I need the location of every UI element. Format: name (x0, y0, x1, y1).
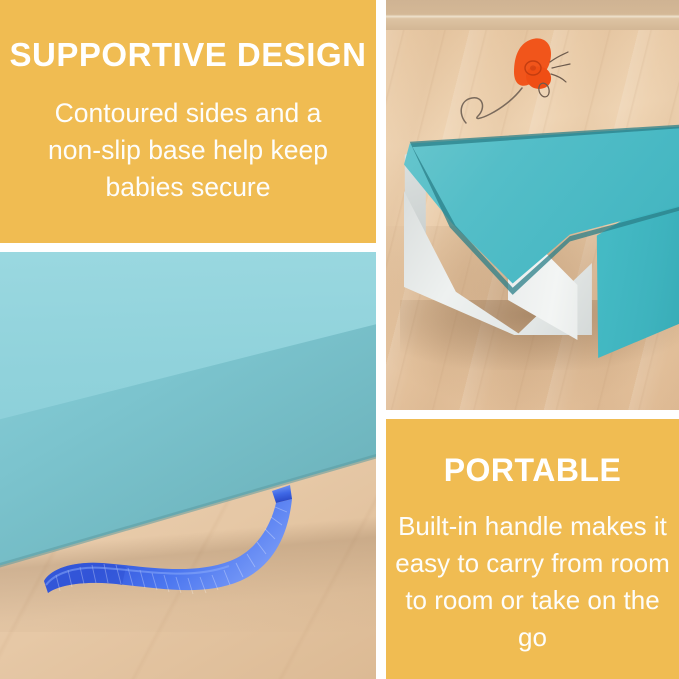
infographic-canvas: SUPPORTIVE DESIGN Contoured sides and a … (0, 0, 679, 679)
portable-headline: PORTABLE (444, 454, 622, 488)
portable-body: Built-in handle makes it easy to carry f… (395, 508, 670, 656)
panel-handle-photo (0, 252, 376, 679)
supportive-design-headline: SUPPORTIVE DESIGN (10, 38, 367, 73)
horizontal-gutter-right (386, 410, 679, 419)
vertical-gutter (376, 0, 386, 679)
panel-portable: PORTABLE Built-in handle makes it easy t… (386, 419, 679, 679)
changing-pad-product (386, 0, 679, 410)
supportive-design-body: Contoured sides and a non-slip base help… (38, 95, 338, 206)
panel-pad-photo (386, 0, 679, 410)
carry-handle-strap (40, 457, 340, 617)
horizontal-gutter-left (0, 243, 376, 252)
panel-supportive-design: SUPPORTIVE DESIGN Contoured sides and a … (0, 0, 376, 243)
